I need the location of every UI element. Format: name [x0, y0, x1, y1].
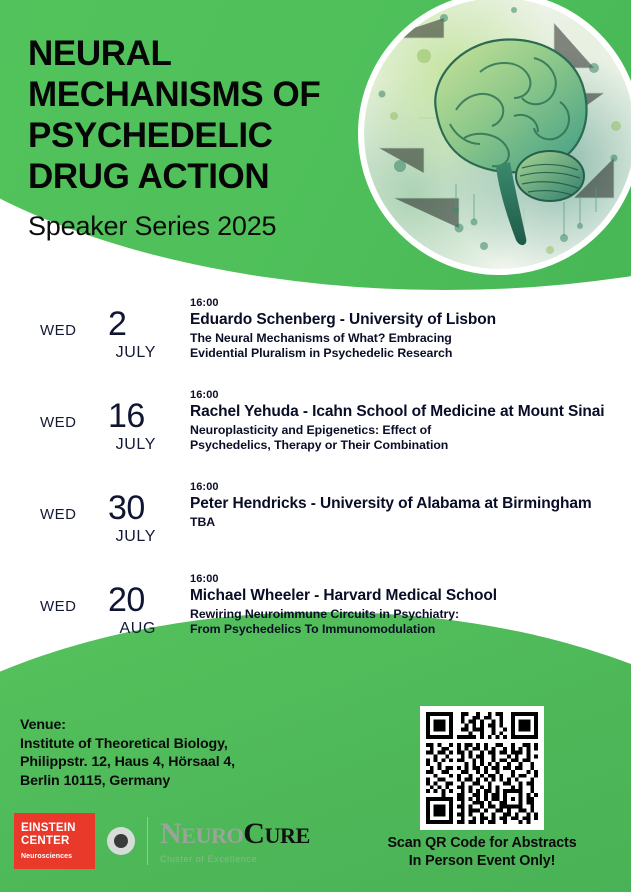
hero-brain-circle [358, 0, 631, 275]
event-month: JULY [40, 528, 190, 546]
event-month: AUG [40, 620, 190, 638]
event-talk-line: The Neural Mechanisms of What? Embracing [190, 331, 617, 346]
event-info: 16:00 Peter Hendricks - University of Al… [190, 479, 631, 530]
neurocure-cure-rest: URE [264, 823, 309, 848]
venue-line: Institute of Theoretical Biology, [20, 735, 380, 754]
event-speaker: Rachel Yehuda - Icahn School of Medicine… [190, 402, 617, 421]
event-talk: Neuroplasticity and Epigenetics: Effect … [190, 423, 617, 453]
venue-line: Philippstr. 12, Haus 4, Hörsaal 4, [20, 753, 380, 772]
event-weekday: WED [40, 598, 94, 615]
brain-illustration-icon [364, 0, 631, 269]
qr-caption: Scan QR Code for Abstracts In Person Eve… [356, 834, 608, 870]
event-time: 16:00 [190, 297, 617, 309]
event-date: WED 16 JULY [40, 387, 190, 454]
einstein-line-2: CENTER [21, 835, 95, 848]
event-talk-line: Evidential Pluralism in Psychedelic Rese… [190, 346, 617, 361]
neurocure-mark-icon [107, 827, 135, 855]
title-line-3: PSYCHEDELIC [28, 115, 368, 156]
einstein-line-1: EINSTEIN [21, 822, 95, 835]
event-row: WED 30 JULY 16:00 Peter Hendricks - Univ… [0, 479, 631, 571]
qr-code-icon[interactable] [420, 706, 544, 830]
event-day: 2 [108, 307, 126, 341]
venue-label: Venue: [20, 716, 380, 735]
poster-canvas: NEURAL MECHANISMS OF PSYCHEDELIC DRUG AC… [0, 0, 631, 892]
event-month: JULY [40, 436, 190, 454]
title-line-4: DRUG ACTION [28, 156, 368, 197]
event-talk: TBA [190, 515, 617, 530]
event-month: JULY [40, 344, 190, 362]
event-speaker: Eduardo Schenberg - University of Lisbon [190, 310, 617, 329]
neurocure-neuro-rest: EURO [181, 823, 243, 848]
title-line-1: NEURAL [28, 33, 368, 74]
event-info: 16:00 Eduardo Schenberg - University of … [190, 295, 631, 361]
event-date: WED 2 JULY [40, 295, 190, 362]
einstein-subtitle: Neurosciences [21, 853, 95, 860]
event-talk-line: TBA [190, 515, 617, 530]
neurocure-logo: NEUROCURE Cluster of Excellence [160, 819, 310, 864]
event-day: 30 [108, 491, 145, 525]
event-talk-line: From Psychedelics To Immunomodulation [190, 622, 617, 637]
event-talk-line: Neuroplasticity and Epigenetics: Effect … [190, 423, 617, 438]
event-time: 16:00 [190, 573, 617, 585]
event-time: 16:00 [190, 481, 617, 493]
poster-subtitle: Speaker Series 2025 [28, 210, 368, 242]
venue-line: Berlin 10115, Germany [20, 772, 380, 791]
event-info: 16:00 Rachel Yehuda - Icahn School of Me… [190, 387, 631, 453]
event-talk-line: Psychedelics, Therapy or Their Combinati… [190, 438, 617, 453]
schedule-list: WED 2 JULY 16:00 Eduardo Schenberg - Uni… [0, 295, 631, 663]
logo-bar: EINSTEIN CENTER Neurosciences NEUROCURE … [14, 812, 310, 870]
qr-caption-line-2: In Person Event Only! [356, 852, 608, 870]
poster-title: NEURAL MECHANISMS OF PSYCHEDELIC DRUG AC… [28, 33, 368, 242]
event-day: 16 [108, 399, 145, 433]
event-talk: The Neural Mechanisms of What? Embracing… [190, 331, 617, 361]
event-row: WED 20 AUG 16:00 Michael Wheeler - Harva… [0, 571, 631, 663]
title-line-2: MECHANISMS OF [28, 74, 368, 115]
event-weekday: WED [40, 506, 94, 523]
event-talk: Rewiring Neuroimmune Circuits in Psychia… [190, 607, 617, 637]
qr-caption-line-1: Scan QR Code for Abstracts [356, 834, 608, 852]
neurocure-cure-cap: C [243, 817, 264, 850]
venue-block: Venue: Institute of Theoretical Biology,… [20, 716, 380, 790]
event-info: 16:00 Michael Wheeler - Harvard Medical … [190, 571, 631, 637]
event-date: WED 20 AUG [40, 571, 190, 638]
event-speaker: Michael Wheeler - Harvard Medical School [190, 586, 617, 605]
event-row: WED 2 JULY 16:00 Eduardo Schenberg - Uni… [0, 295, 631, 387]
logo-divider [147, 817, 148, 865]
event-day: 20 [108, 583, 145, 617]
event-speaker: Peter Hendricks - University of Alabama … [190, 494, 617, 513]
event-time: 16:00 [190, 389, 617, 401]
event-date: WED 30 JULY [40, 479, 190, 546]
neurocure-neuro-cap: N [160, 817, 181, 850]
einstein-center-logo: EINSTEIN CENTER Neurosciences [14, 813, 95, 869]
event-row: WED 16 JULY 16:00 Rachel Yehuda - Icahn … [0, 387, 631, 479]
event-weekday: WED [40, 322, 94, 339]
event-weekday: WED [40, 414, 94, 431]
event-talk-line: Rewiring Neuroimmune Circuits in Psychia… [190, 607, 617, 622]
neurocure-tagline: Cluster of Excellence [160, 854, 310, 864]
